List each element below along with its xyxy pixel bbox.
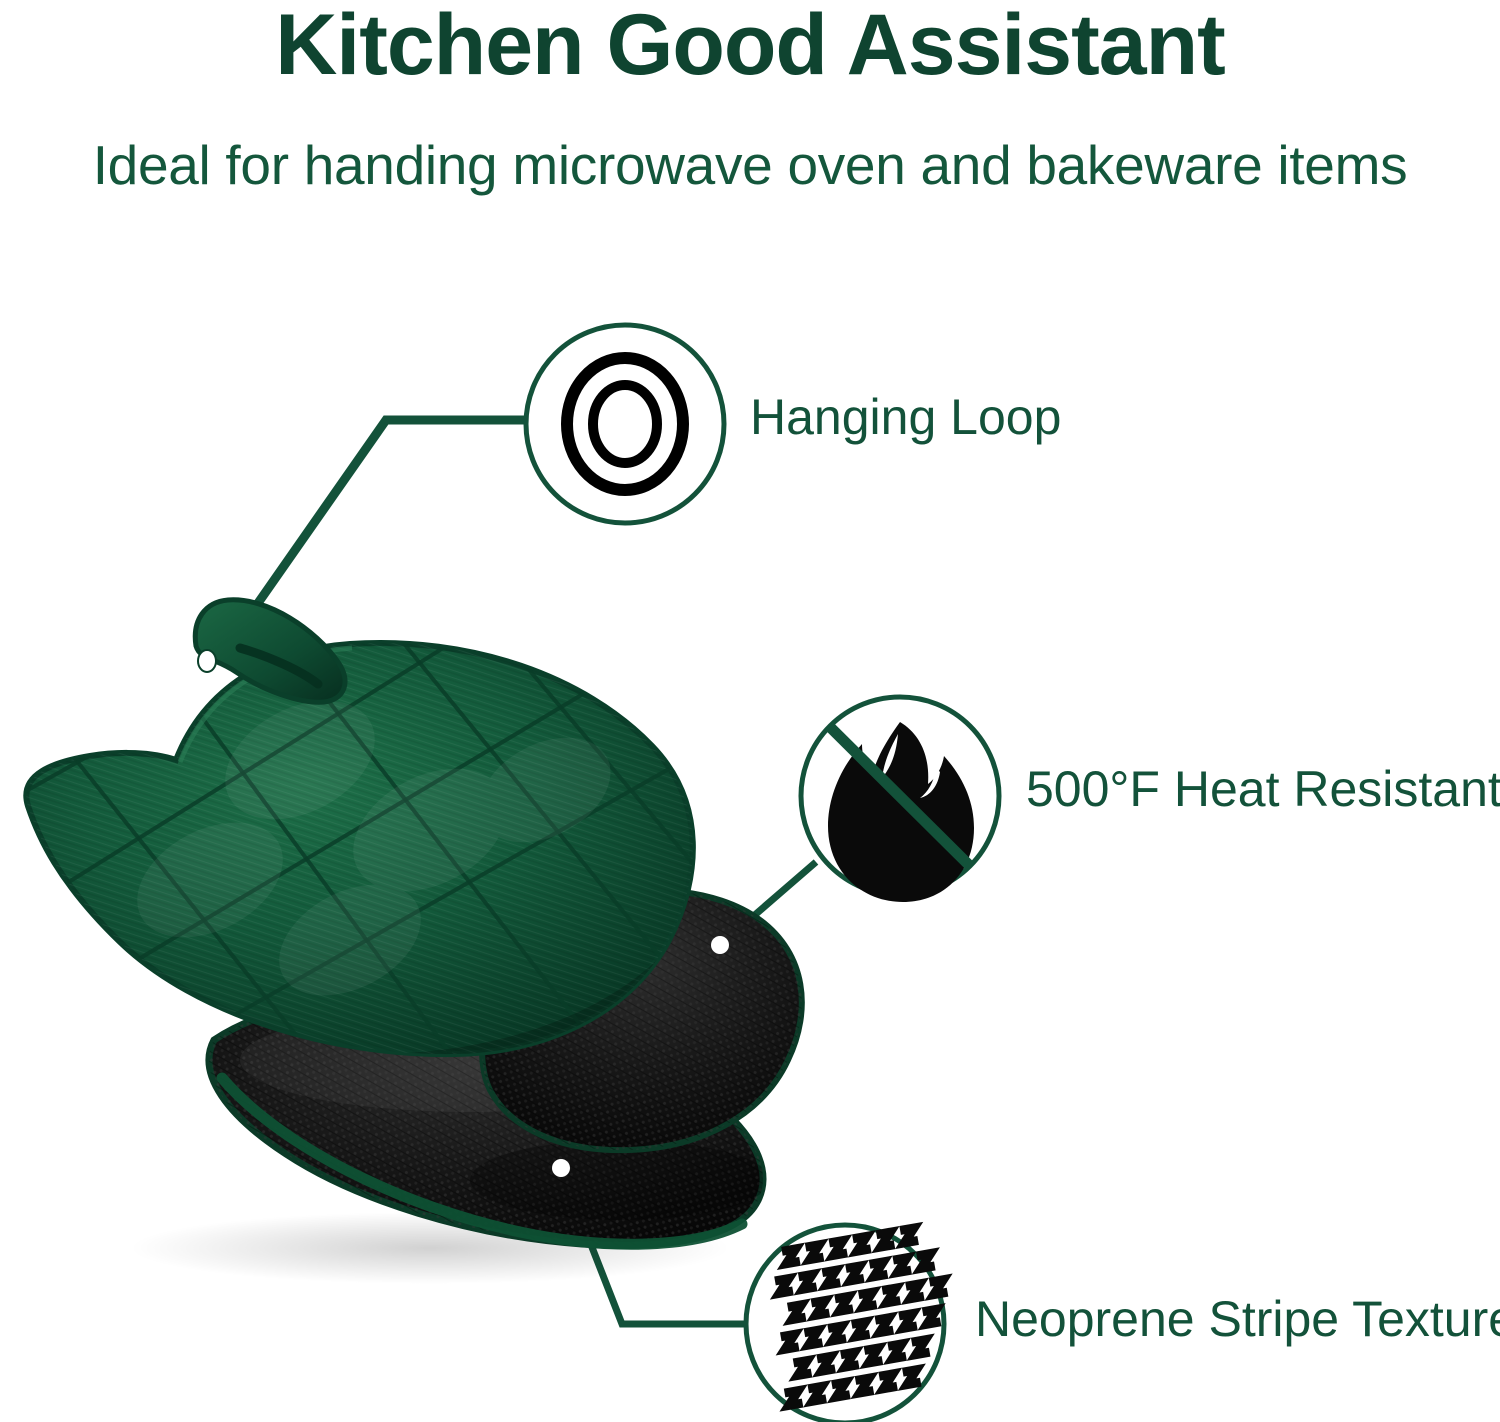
callout-hanging-loop[interactable] [526, 325, 724, 523]
anchor-dot-neoprene [552, 1159, 570, 1177]
product-illustration [0, 0, 1500, 1422]
callout-label-heat-resistant: 500°F Heat Resistant [1026, 764, 1500, 814]
anchor-dot-heat-resistant [711, 936, 729, 954]
callout-neoprene-texture[interactable] [746, 1224, 962, 1422]
callout-heat-resistant[interactable] [801, 697, 999, 902]
oven-mitt-product [0, 570, 802, 1284]
infographic-page: Kitchen Good Assistant Ideal for handing… [0, 0, 1500, 1422]
callout-label-neoprene-texture: Neoprene Stripe Texture [975, 1294, 1500, 1344]
hanging-loop-tab [195, 600, 345, 702]
callout-label-hanging-loop: Hanging Loop [750, 392, 1061, 442]
